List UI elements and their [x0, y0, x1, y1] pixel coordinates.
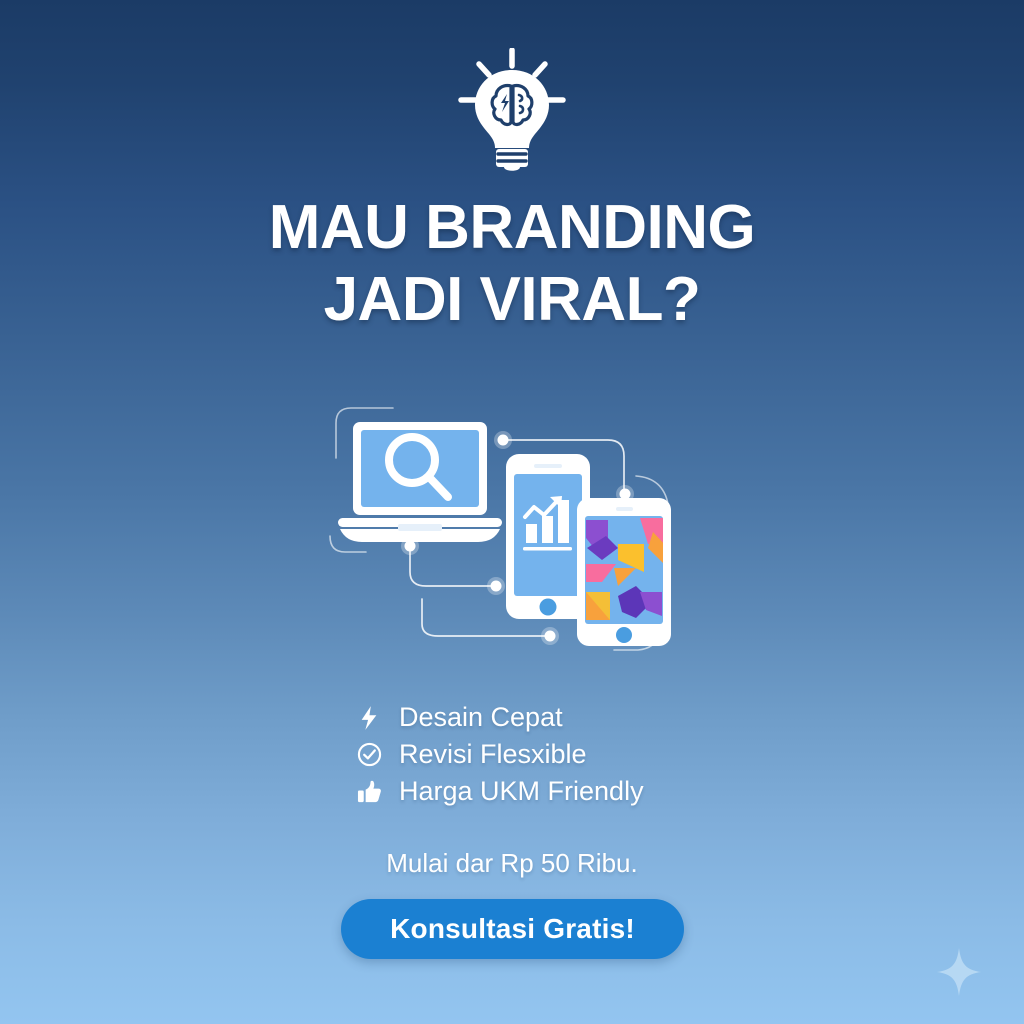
cta-button[interactable]: Konsultasi Gratis! — [341, 899, 684, 959]
promo-poster: MAU BRANDING JADI VIRAL? — [0, 0, 1024, 1024]
feature-item-1: Revisi Flesxible — [356, 739, 668, 770]
lightbulb-brain-icon — [457, 48, 567, 172]
feature-label-1: Revisi Flesxible — [399, 739, 587, 770]
page-title: MAU BRANDING JADI VIRAL? — [0, 192, 1024, 336]
feature-list: Desain Cepat Revisi Flesxible Harga UKM … — [0, 702, 1024, 807]
headline-line-2: JADI VIRAL? — [0, 264, 1024, 336]
lightning-bolt-icon — [356, 703, 382, 733]
price-text: Mulai dar Rp 50 Ribu. — [0, 848, 1024, 879]
thumbs-up-icon — [356, 777, 382, 807]
laptop-search-icon — [338, 422, 502, 542]
sparkle-star-icon — [935, 946, 983, 998]
check-circle-icon — [356, 740, 382, 770]
feature-label-2: Harga UKM Friendly — [399, 776, 644, 807]
feature-item-2: Harga UKM Friendly — [356, 776, 668, 807]
headline-line-1: MAU BRANDING — [0, 192, 1024, 264]
devices-illustration — [318, 396, 704, 676]
feature-label-0: Desain Cepat — [399, 702, 563, 733]
feature-item-0: Desain Cepat — [356, 702, 668, 733]
tablet-shapes-icon — [577, 498, 671, 646]
